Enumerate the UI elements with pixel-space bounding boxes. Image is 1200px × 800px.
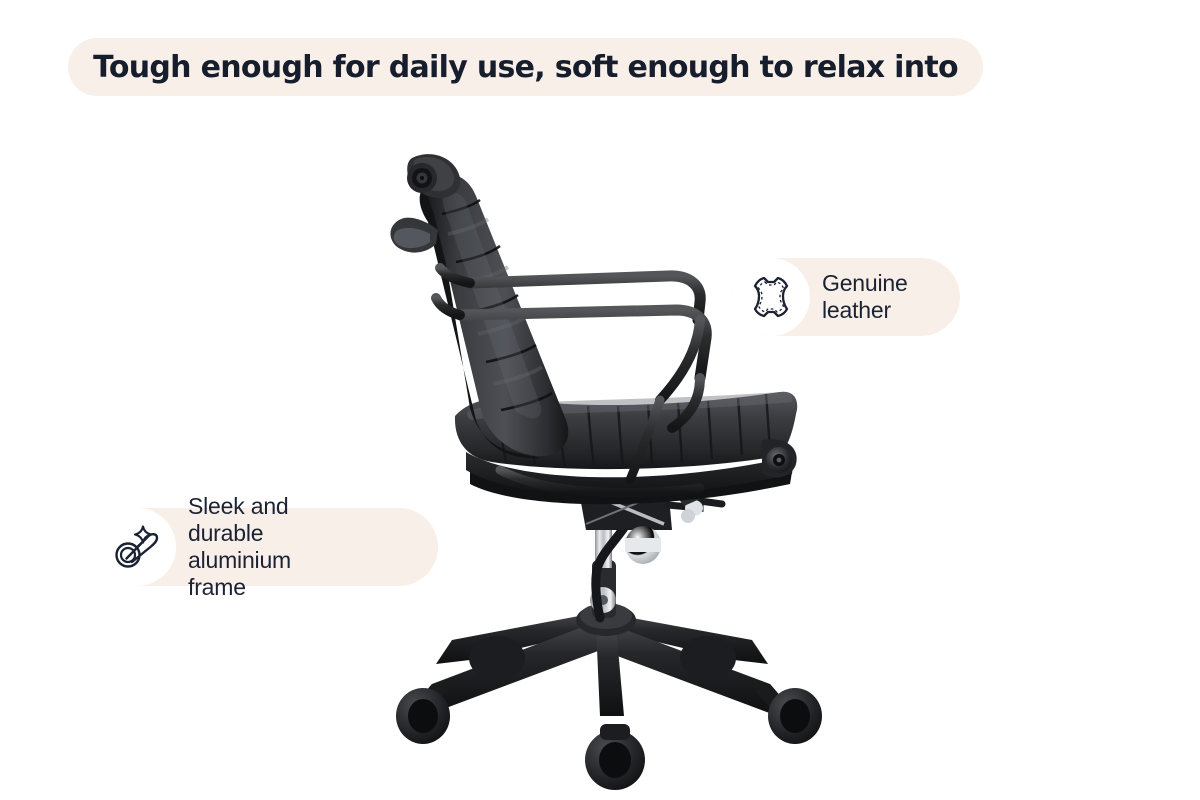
leather-hide-icon	[747, 273, 795, 321]
headline-pill: Tough enough for daily use, soft enough …	[68, 38, 983, 96]
badge-icon-circle	[98, 508, 176, 586]
headrest-cap-bolt	[407, 163, 437, 193]
badge-icon-circle	[732, 258, 810, 336]
product-feature-banner: Tough enough for daily use, soft enough …	[0, 0, 1200, 800]
badge-label: Sleek and durable aluminium frame	[188, 493, 291, 602]
office-chair-image	[0, 0, 1200, 800]
aluminium-tube-sparkle-icon	[112, 522, 162, 572]
backrest	[407, 154, 568, 458]
badge-label: Genuine leather	[822, 270, 908, 324]
page-title: Tough enough for daily use, soft enough …	[93, 50, 958, 85]
